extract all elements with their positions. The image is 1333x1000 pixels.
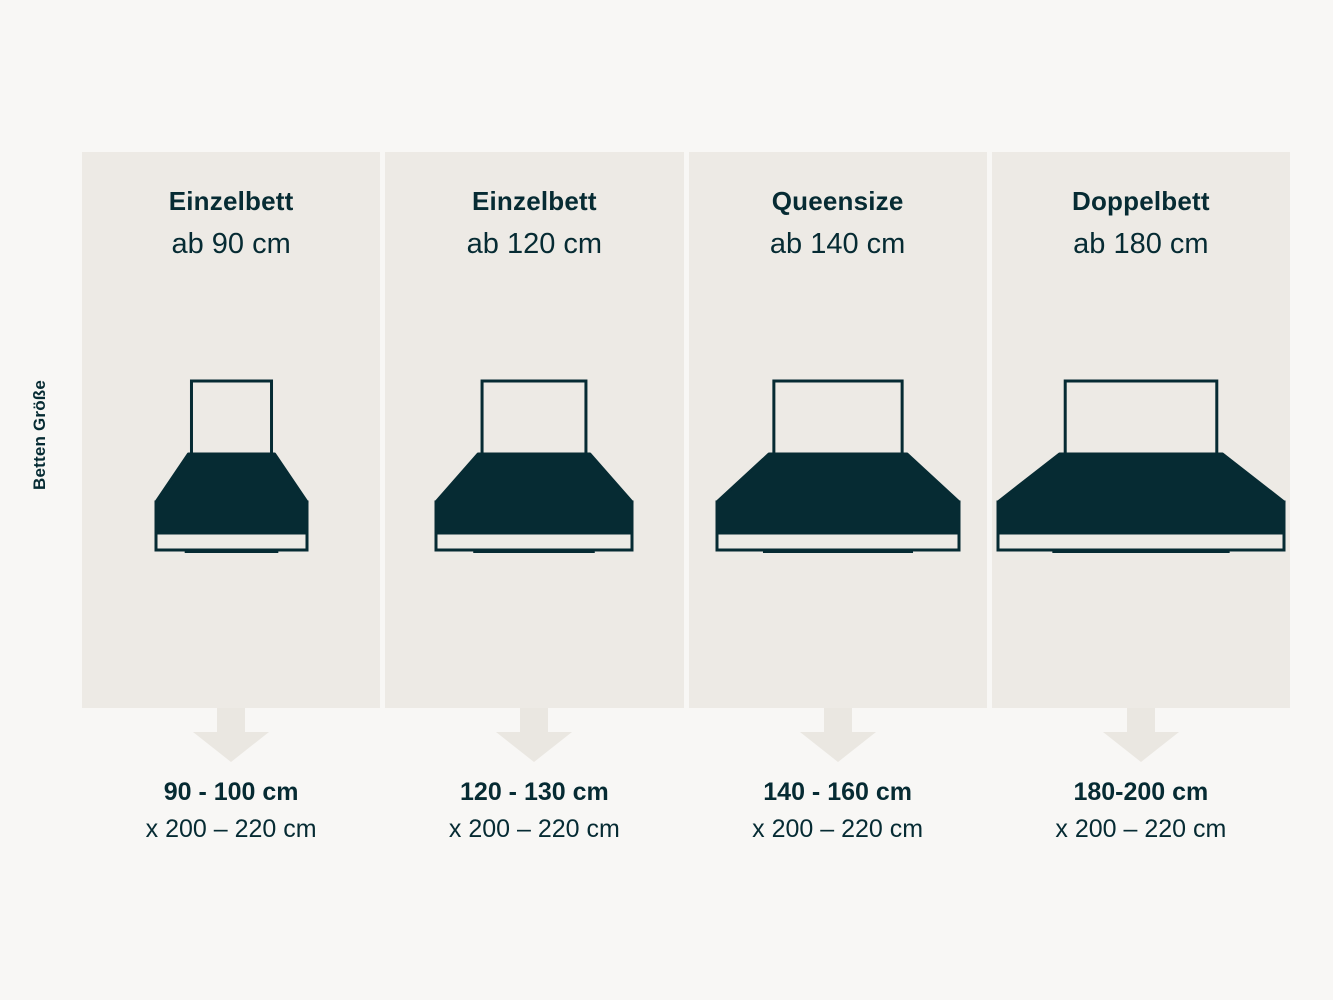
panel-column-3: Queensize ab 140 cm [689, 152, 987, 708]
dimension-length-2: x 200 – 220 cm [385, 809, 683, 849]
arrow-cell-2 [385, 708, 683, 764]
dimension-width-4: 180-200 cm [992, 775, 1290, 809]
bed-base-strip [717, 533, 959, 550]
bed-base-strip [436, 533, 632, 550]
arrow-cell-3 [689, 708, 987, 764]
bed-headboard [482, 381, 586, 454]
bed-front-icon [153, 378, 310, 556]
dimension-length-4: x 200 – 220 cm [992, 809, 1290, 849]
arrow-cell-4 [992, 708, 1290, 764]
axis-label-betten-groesse: Betten Größe [0, 330, 80, 540]
dimension-length-3: x 200 – 220 cm [689, 809, 987, 849]
bed-illustration-3 [689, 378, 987, 556]
panel-heading-2: Einzelbett ab 120 cm [385, 184, 683, 264]
panel-heading-3: Queensize ab 140 cm [689, 184, 987, 264]
bed-illustration-2 [385, 378, 683, 556]
panel-title-4: Doppelbett [992, 184, 1290, 218]
panel-heading-4: Doppelbett ab 180 cm [992, 184, 1290, 264]
panel-row: Einzelbett ab 90 cm Einzelbett ab 120 cm [82, 152, 1290, 708]
bed-front-icon [995, 378, 1287, 556]
axis-label-text: Betten Größe [30, 380, 50, 490]
dimension-length-1: x 200 – 220 cm [82, 809, 380, 849]
bed-front-icon [433, 378, 635, 556]
bed-base [717, 502, 959, 533]
bed-mattress [717, 454, 959, 502]
bed-illustration-1 [82, 378, 380, 556]
panel-title-3: Queensize [689, 184, 987, 218]
panel-subtitle-4: ab 180 cm [992, 224, 1290, 264]
arrow-down-icon [800, 708, 876, 762]
bed-mattress [436, 454, 632, 502]
panel-title-2: Einzelbett [385, 184, 683, 218]
panel-column-2: Einzelbett ab 120 cm [385, 152, 683, 708]
bed-base [436, 502, 632, 533]
dimension-cell-4: 180-200 cm x 200 – 220 cm [992, 775, 1290, 875]
panel-title-1: Einzelbett [82, 184, 380, 218]
panel-heading-1: Einzelbett ab 90 cm [82, 184, 380, 264]
bed-base [998, 502, 1284, 533]
bed-front-icon [153, 378, 310, 556]
bed-base [156, 502, 307, 533]
arrow-row [82, 708, 1290, 764]
bed-illustration-4 [992, 378, 1290, 556]
bed-mattress [156, 454, 307, 502]
arrow-down-icon [1103, 708, 1179, 762]
bed-sizes-infographic: Betten Größe Einzelbett ab 90 cm Einzelb… [0, 0, 1333, 1000]
bed-front-icon [433, 378, 635, 556]
dimension-width-1: 90 - 100 cm [82, 775, 380, 809]
arrow-cell-1 [82, 708, 380, 764]
bed-front-icon [995, 378, 1287, 556]
arrow-down-icon [800, 708, 876, 762]
bed-mattress [998, 454, 1284, 502]
bed-headboard [773, 381, 901, 454]
dimension-row: 90 - 100 cm x 200 – 220 cm 120 - 130 cm … [82, 775, 1290, 875]
panel-column-1: Einzelbett ab 90 cm [82, 152, 380, 708]
bed-base-strip [156, 533, 307, 550]
bed-base-strip [998, 533, 1284, 550]
panel-subtitle-1: ab 90 cm [82, 224, 380, 264]
panel-column-4: Doppelbett ab 180 cm [992, 152, 1290, 708]
arrow-down-icon [496, 708, 572, 762]
dimension-cell-2: 120 - 130 cm x 200 – 220 cm [385, 775, 683, 875]
arrow-down-icon [1103, 708, 1179, 762]
bed-headboard [191, 381, 271, 454]
bed-front-icon [714, 378, 962, 556]
dimension-cell-3: 140 - 160 cm x 200 – 220 cm [689, 775, 987, 875]
arrow-down-icon [496, 708, 572, 762]
dimension-cell-1: 90 - 100 cm x 200 – 220 cm [82, 775, 380, 875]
dimension-width-2: 120 - 130 cm [385, 775, 683, 809]
panel-subtitle-3: ab 140 cm [689, 224, 987, 264]
bed-front-icon [714, 378, 962, 556]
arrow-down-icon [193, 708, 269, 762]
arrow-down-icon [193, 708, 269, 762]
panel-subtitle-2: ab 120 cm [385, 224, 683, 264]
bed-headboard [1065, 381, 1217, 454]
dimension-width-3: 140 - 160 cm [689, 775, 987, 809]
